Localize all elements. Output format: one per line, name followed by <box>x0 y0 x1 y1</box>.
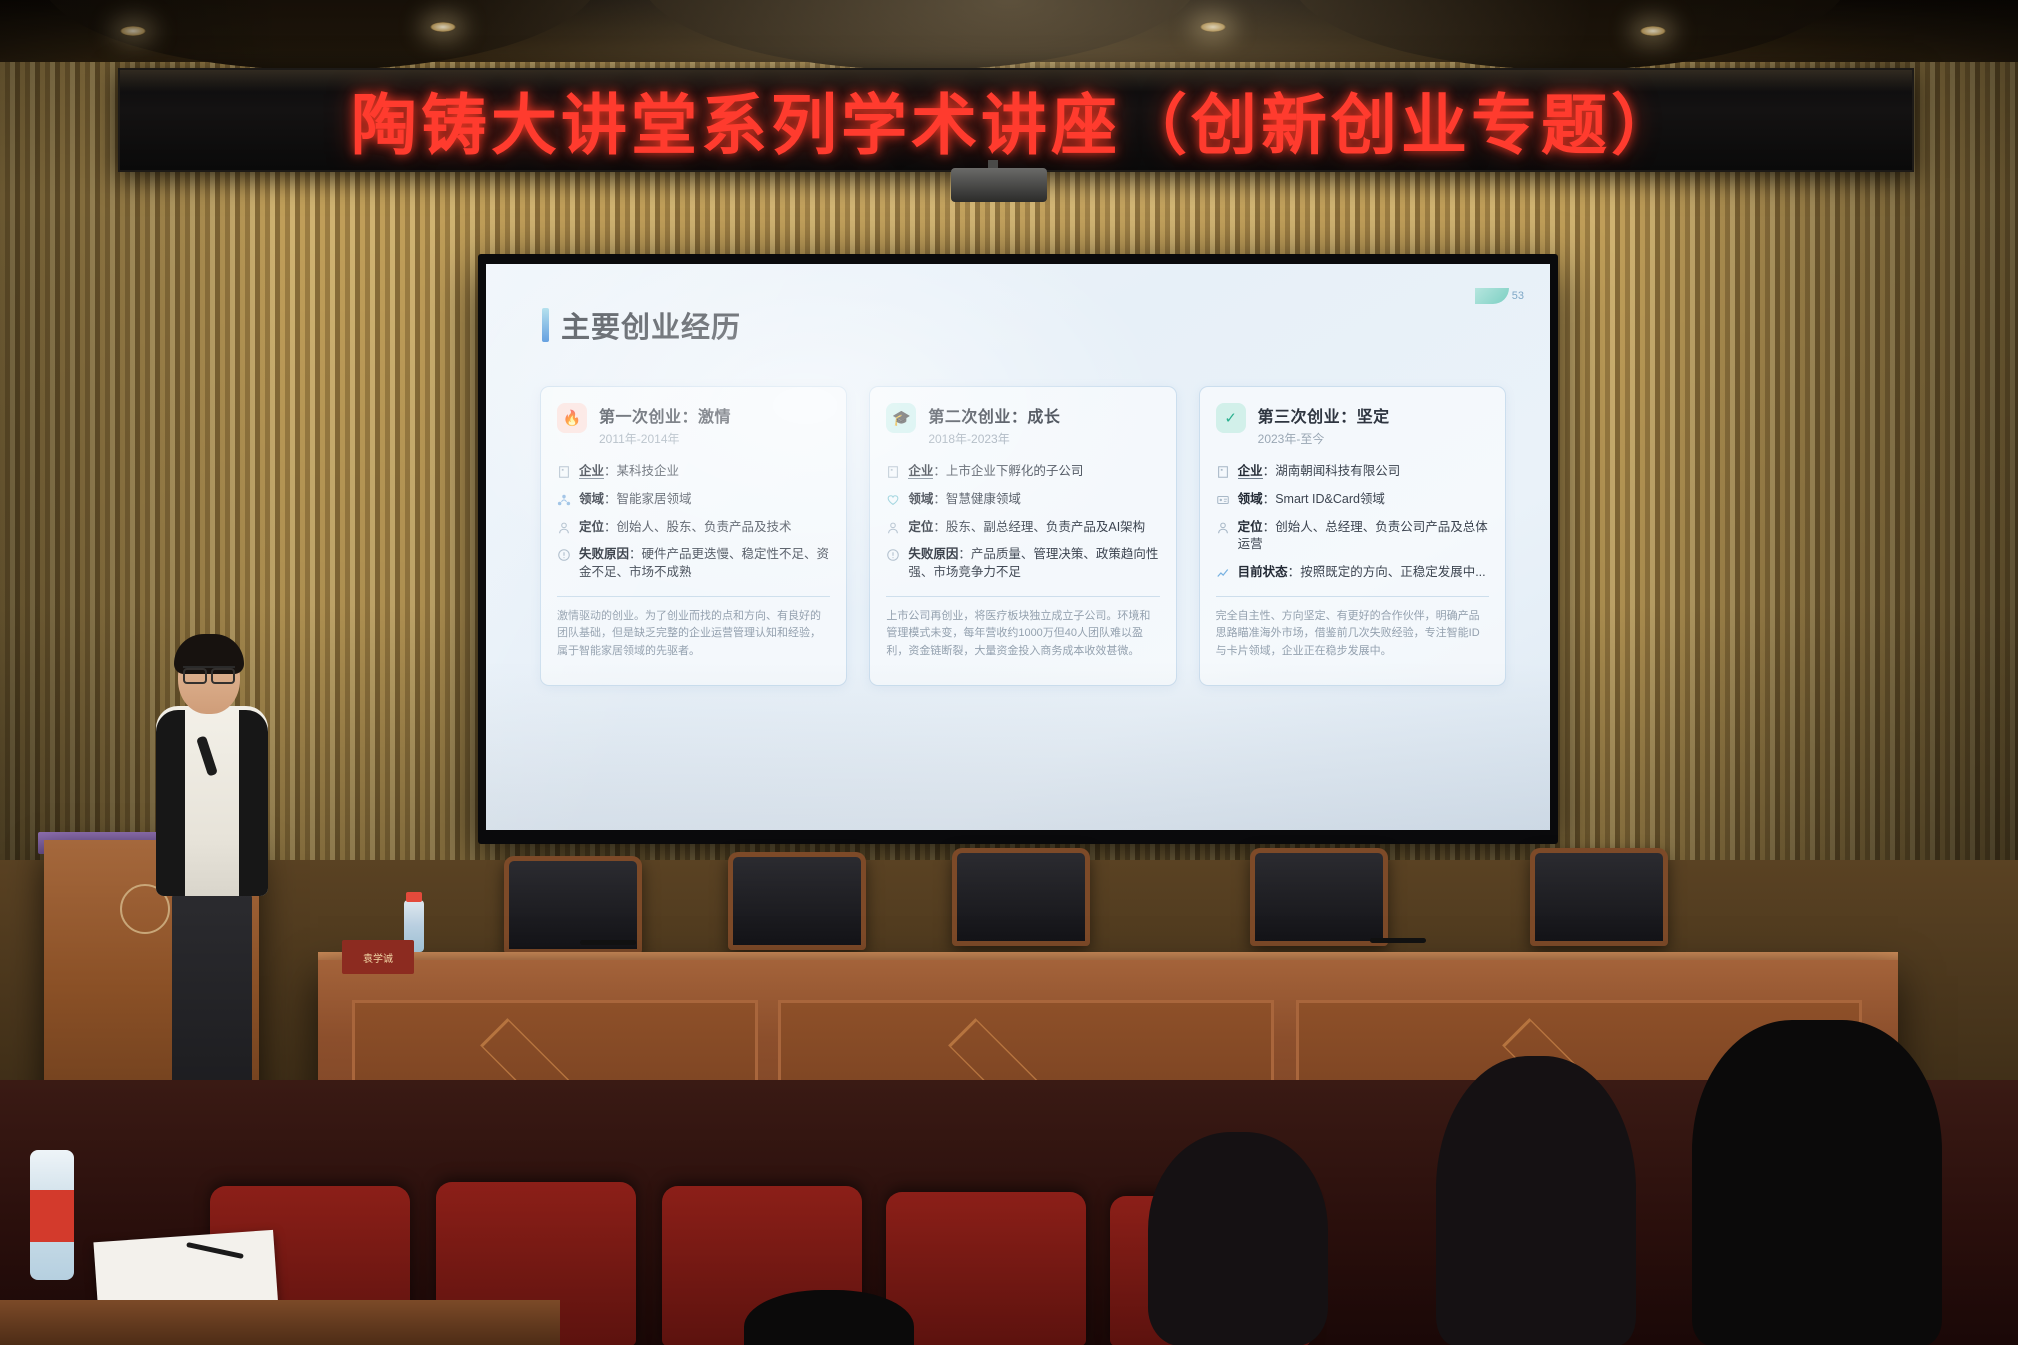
card-heading: 第一次创业：激情 <box>599 403 731 427</box>
card-row: 领域：Smart ID&Card领域 <box>1216 491 1489 509</box>
card-row: 失败原因：产品质量、管理决策、政策趋向性强、市场竞争力不足 <box>886 546 1159 582</box>
card-row: 定位：创始人、股东、负责产品及技术 <box>557 519 830 537</box>
desk-nameplate-text: 袁学诚 <box>363 950 393 965</box>
audience-head <box>1692 1020 1942 1345</box>
foreground-table <box>0 1300 560 1345</box>
card-icon <box>1216 493 1230 507</box>
slide-title-row: 主要创业经历 <box>542 304 1520 346</box>
card-row-value: 某科技企业 <box>617 464 680 478</box>
building-icon <box>1216 465 1230 479</box>
slide-card-row: 🔥 第一次创业：激情 2011年-2014年 企业：某科技企业 <box>540 386 1506 686</box>
slide-title: 主要创业经历 <box>561 304 741 346</box>
desk-microphone <box>580 940 636 945</box>
chair <box>952 848 1090 946</box>
card-row: 定位：创始人、总经理、负责公司产品及总体运营 <box>1216 519 1489 555</box>
projection-screen-frame: 53 主要创业经历 🔥 第一次创业：激情 2011年-2014年 <box>478 254 1558 844</box>
card-heading: 第二次创业：成长 <box>928 403 1060 427</box>
card-row-label: 定位 <box>1238 520 1263 534</box>
card-summary: 激情驱动的创业。为了创业而找的点和方向、有良好的团队基础，但是缺乏完整的企业运营… <box>557 596 830 661</box>
card-row: 企业：湖南朝闻科技有限公司 <box>1216 463 1489 481</box>
card-row: 定位：股东、副总经理、负责产品及AI架构 <box>886 519 1159 537</box>
warning-icon <box>886 548 900 562</box>
card-row: 领域：智能家居领域 <box>557 491 830 509</box>
card-header: ✓ 第三次创业：坚定 2023年-至今 <box>1216 403 1489 447</box>
card-date-range: 2018年-2023年 <box>928 430 1060 447</box>
card-row-label: 领域 <box>908 492 933 506</box>
card-row-label: 企业 <box>579 464 604 479</box>
audience-head <box>1436 1056 1636 1345</box>
network-icon <box>557 493 571 507</box>
card-row-value: 按照既定的方向、正稳定发展中... <box>1300 565 1485 579</box>
title-accent-bar <box>542 308 549 342</box>
card-row-label: 失败原因 <box>579 547 629 561</box>
card-row: 失败原因：硬件产品更迭慢、稳定性不足、资金不足、市场不成熟 <box>557 546 830 582</box>
audience-head <box>1148 1132 1328 1345</box>
glasses-icon <box>183 666 235 680</box>
card-header: 🔥 第一次创业：激情 2011年-2014年 <box>557 403 830 447</box>
building-icon <box>886 465 900 479</box>
lecture-hall-scene: 陶铸大讲堂系列学术讲座（创新创业专题） 53 主要创业经历 <box>0 0 2018 1345</box>
card-row-value: Smart ID&Card领域 <box>1275 492 1385 506</box>
card-row-value: 上市企业下孵化的子公司 <box>946 464 1084 478</box>
building-icon <box>557 465 571 479</box>
audience-seat <box>886 1192 1086 1345</box>
experience-card: 🎓 第二次创业：成长 2018年-2023年 企业：上市企业下孵化的子公司 <box>869 386 1176 686</box>
led-banner: 陶铸大讲堂系列学术讲座（创新创业专题） <box>118 68 1914 172</box>
chair <box>1250 848 1388 946</box>
desk-microphone <box>1370 938 1426 943</box>
experience-card: 🔥 第一次创业：激情 2011年-2014年 企业：某科技企业 <box>540 386 847 686</box>
card-row-value: 智能家居领域 <box>617 492 692 506</box>
torch-icon: 🔥 <box>557 403 587 433</box>
projection-screen: 53 主要创业经历 🔥 第一次创业：激情 2011年-2014年 <box>486 264 1550 830</box>
speaker-vest <box>156 710 268 896</box>
card-date-range: 2023年-至今 <box>1258 430 1390 447</box>
card-row-label: 领域 <box>1238 492 1263 506</box>
person-icon <box>886 521 900 535</box>
card-row-value: 湖南朝闻科技有限公司 <box>1275 464 1400 478</box>
ceiling-projector <box>951 168 1047 202</box>
card-row-value: 创始人、股东、负责产品及技术 <box>617 520 792 534</box>
card-row-label: 目前状态 <box>1238 565 1288 579</box>
card-row-value: 股东、副总经理、负责产品及AI架构 <box>946 520 1145 534</box>
slide-page-badge: 53 <box>1475 288 1524 304</box>
card-row: 领域：智慧健康领域 <box>886 491 1159 509</box>
card-summary: 完全自主性、方向坚定、有更好的合作伙伴，明确产品思路瞄准海外市场，借鉴前几次失败… <box>1216 596 1489 661</box>
card-row-label: 定位 <box>579 520 604 534</box>
bottle-cap <box>406 892 422 902</box>
card-row-label: 定位 <box>908 520 933 534</box>
bottle-label <box>30 1190 74 1242</box>
chair <box>1530 848 1668 946</box>
card-row-label: 失败原因 <box>908 547 958 561</box>
card-row-value: 智慧健康领域 <box>946 492 1021 506</box>
warning-icon <box>557 548 571 562</box>
heart-icon <box>886 493 900 507</box>
card-row: 企业：上市企业下孵化的子公司 <box>886 463 1159 481</box>
card-header: 🎓 第二次创业：成长 2018年-2023年 <box>886 403 1159 447</box>
person-icon <box>1216 521 1230 535</box>
graduation-cap-icon: 🎓 <box>886 403 916 433</box>
slide-page-number: 53 <box>1512 290 1524 302</box>
chart-line-icon <box>1216 566 1230 580</box>
card-row-label: 领域 <box>579 492 604 506</box>
card-row: 企业：某科技企业 <box>557 463 830 481</box>
card-summary: 上市公司再创业，将医疗板块独立成立子公司。环境和管理模式未变，每年营收约1000… <box>886 596 1159 661</box>
desk-nameplate: 袁学诚 <box>342 940 414 974</box>
led-banner-text: 陶铸大讲堂系列学术讲座（创新创业专题） <box>351 72 1681 168</box>
chair <box>728 852 866 950</box>
person-icon <box>557 521 571 535</box>
card-row-value: 创始人、总经理、负责公司产品及总体运营 <box>1238 520 1488 552</box>
slide-decor-swoosh <box>1475 288 1509 304</box>
check-circle-icon: ✓ <box>1216 403 1246 433</box>
card-row-label: 企业 <box>908 464 933 479</box>
presentation-slide: 53 主要创业经历 🔥 第一次创业：激情 2011年-2014年 <box>486 264 1550 830</box>
card-row-label: 企业 <box>1238 464 1263 479</box>
card-heading: 第三次创业：坚定 <box>1258 403 1390 427</box>
card-row: 目前状态：按照既定的方向、正稳定发展中... <box>1216 564 1489 582</box>
experience-card: ✓ 第三次创业：坚定 2023年-至今 企业：湖南朝闻科技有限公司 <box>1199 386 1506 686</box>
card-date-range: 2011年-2014年 <box>599 430 731 447</box>
